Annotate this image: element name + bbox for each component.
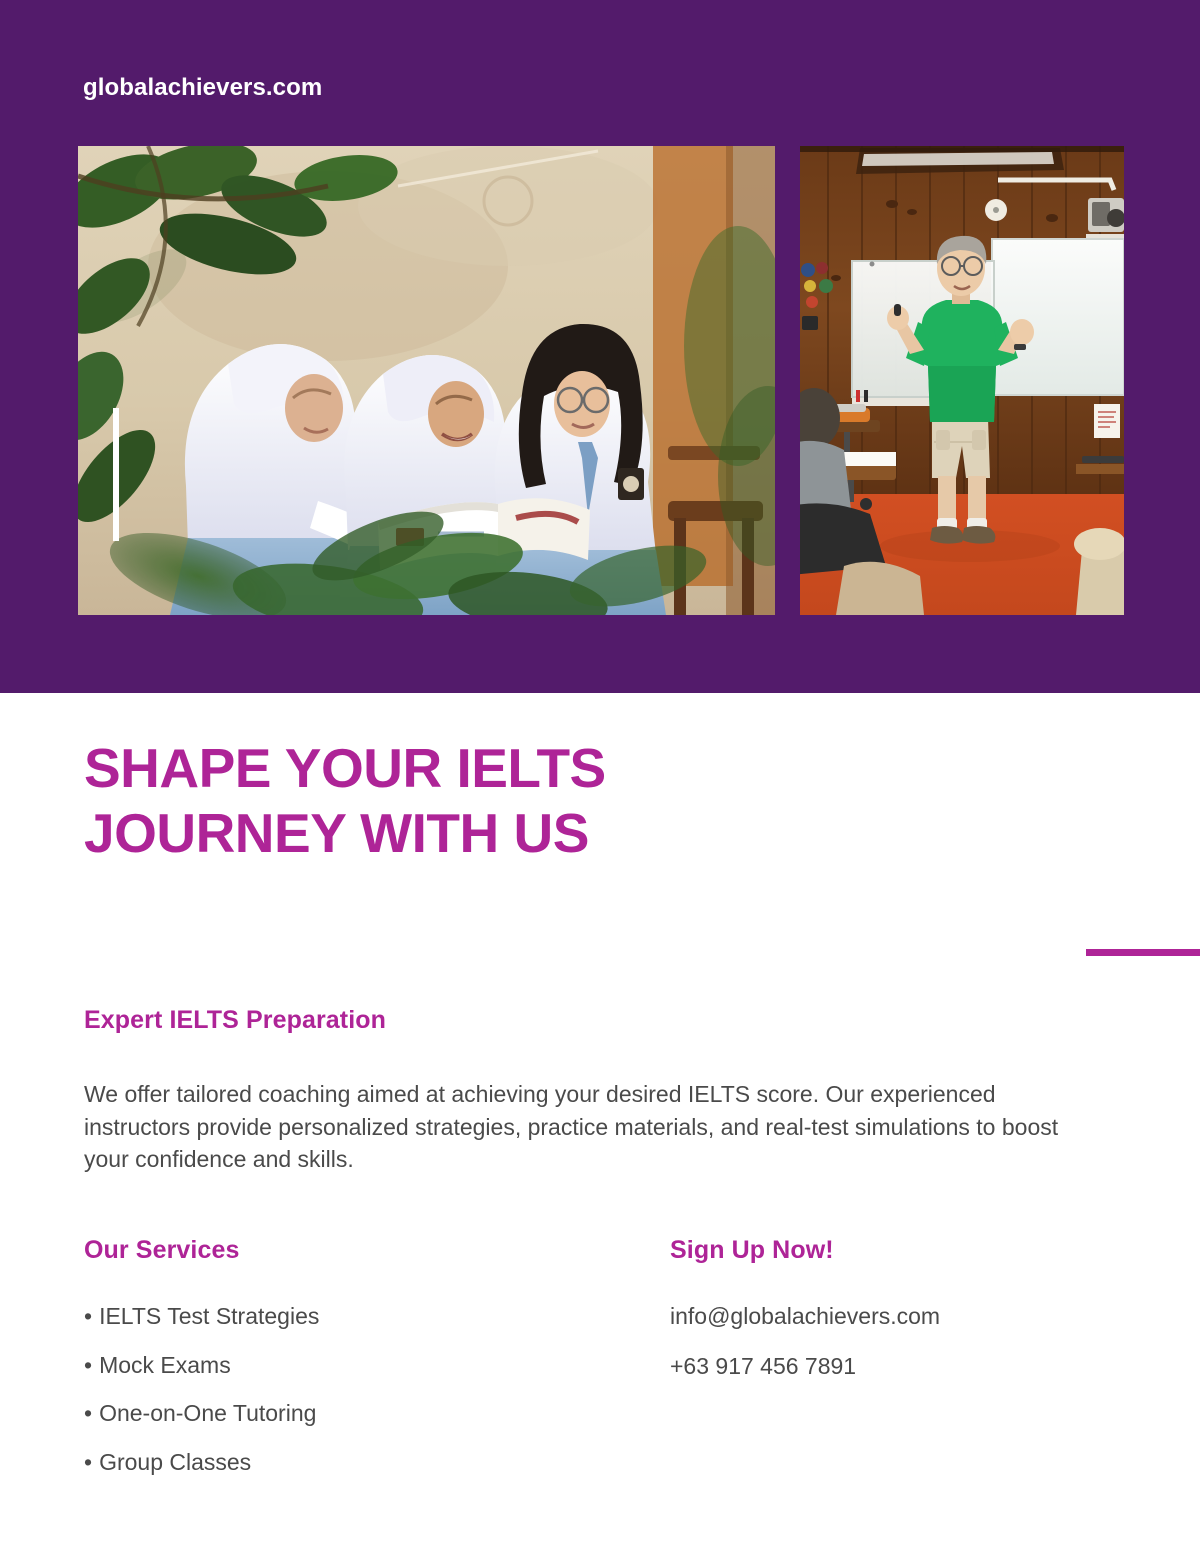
bullet-icon: • <box>84 1352 92 1380</box>
students-reading-illustration <box>78 146 775 615</box>
service-label: Group Classes <box>99 1449 251 1475</box>
contact-column: Sign Up Now! info@globalachievers.com +6… <box>670 1236 1130 1402</box>
accent-rule <box>1086 949 1200 956</box>
service-label: Mock Exams <box>99 1352 231 1378</box>
vertical-accent-bar <box>113 408 119 541</box>
instructor-teaching-photo <box>800 146 1124 615</box>
services-column: Our Services •IELTS Test Strategies •Moc… <box>84 1236 604 1497</box>
list-item: •One-on-One Tutoring <box>84 1400 604 1428</box>
list-item: •Group Classes <box>84 1449 604 1477</box>
hero-band: globalachievers.com <box>0 0 1200 693</box>
section-subheading: Expert IELTS Preparation <box>84 1006 386 1035</box>
service-label: One-on-One Tutoring <box>99 1400 316 1426</box>
students-reading-photo <box>78 146 775 615</box>
contact-phone[interactable]: +63 917 456 7891 <box>670 1353 1130 1381</box>
site-logo: globalachievers.com <box>83 74 322 102</box>
page-title: SHAPE YOUR IELTS JOURNEY WITH US <box>84 736 844 866</box>
instructor-teaching-illustration <box>800 146 1124 615</box>
intro-paragraph: We offer tailored coaching aimed at achi… <box>84 1078 1074 1176</box>
signup-heading: Sign Up Now! <box>670 1236 1130 1265</box>
service-label: IELTS Test Strategies <box>99 1303 319 1329</box>
bullet-icon: • <box>84 1303 92 1331</box>
bullet-icon: • <box>84 1449 92 1477</box>
contact-email[interactable]: info@globalachievers.com <box>670 1303 1130 1331</box>
services-heading: Our Services <box>84 1236 604 1265</box>
list-item: •Mock Exams <box>84 1352 604 1380</box>
list-item: •IELTS Test Strategies <box>84 1303 604 1331</box>
services-list: •IELTS Test Strategies •Mock Exams •One-… <box>84 1303 604 1476</box>
bullet-icon: • <box>84 1400 92 1428</box>
